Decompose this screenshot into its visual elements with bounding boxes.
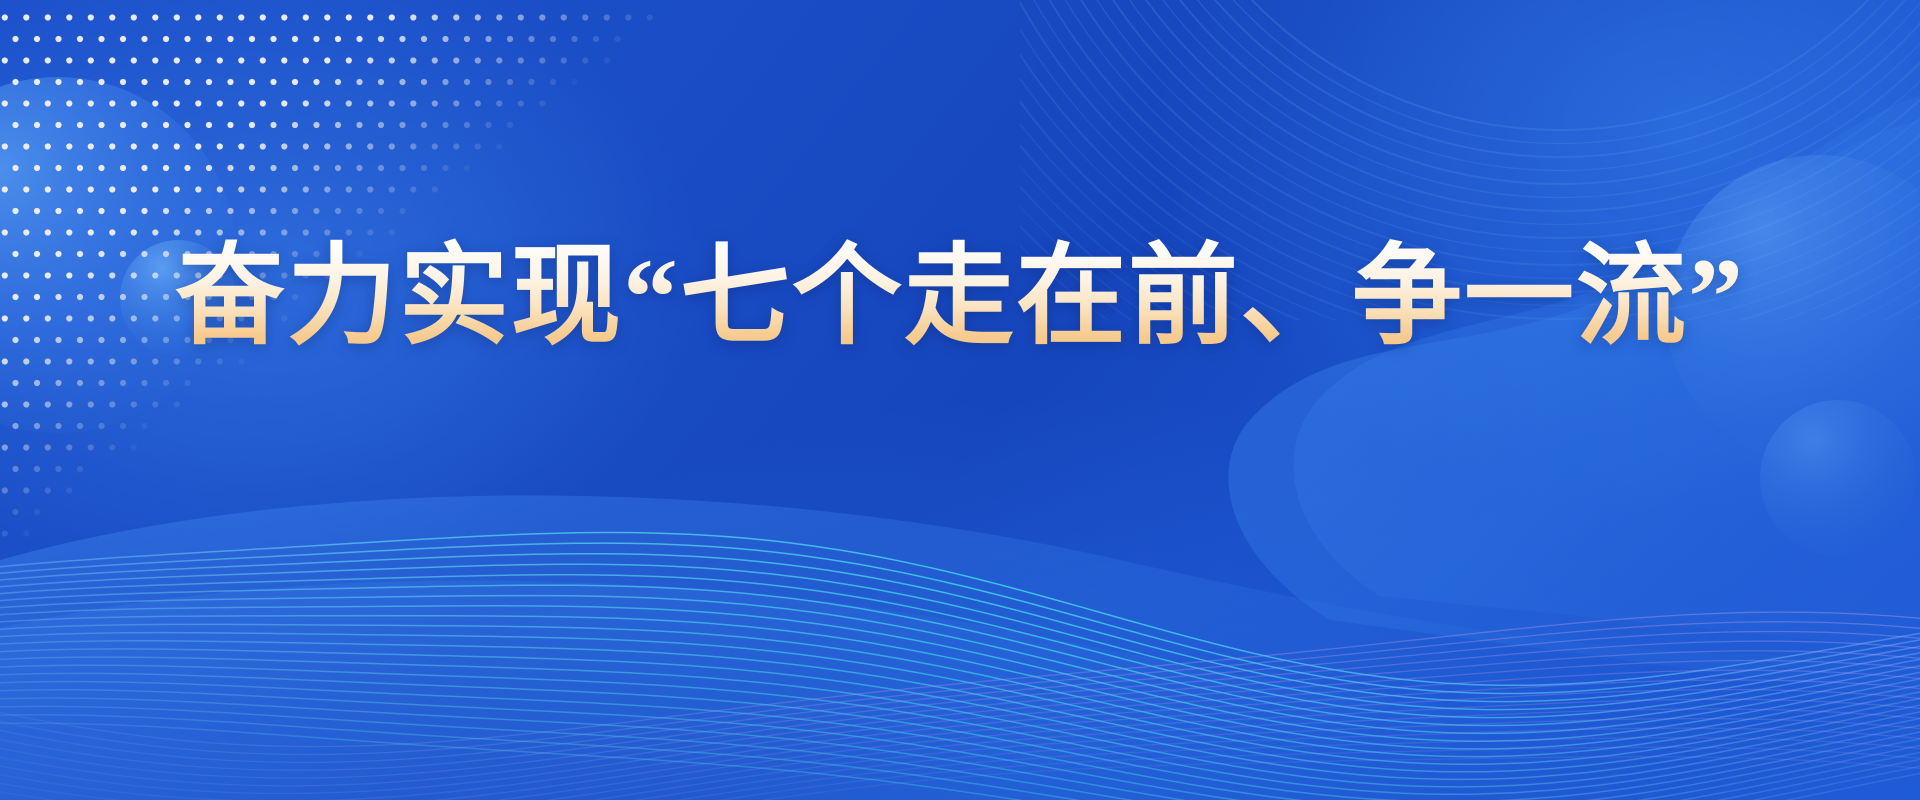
headline-container: 奋力实现“七个走在前、争一流” [0, 238, 1920, 357]
banner-headline: 奋力实现“七个走在前、争一流” [175, 238, 1745, 357]
decoration-layer [0, 0, 1920, 800]
glow-circle-small [1760, 400, 1916, 556]
promo-banner: 奋力实现“七个走在前、争一流” [0, 0, 1920, 800]
